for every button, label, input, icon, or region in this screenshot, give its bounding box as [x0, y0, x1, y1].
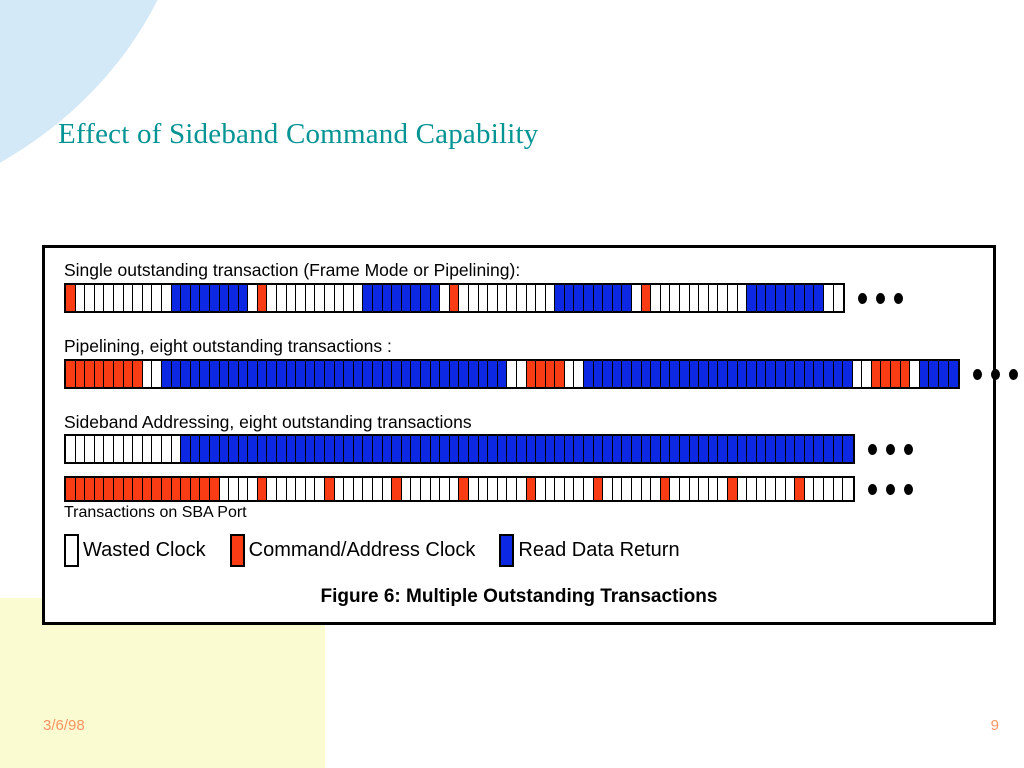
timing-cell-b	[824, 436, 834, 462]
timing-cell-b	[344, 436, 354, 462]
timing-cell-w	[479, 478, 489, 500]
timing-cell-r	[881, 361, 891, 387]
timing-cell-b	[661, 436, 671, 462]
timing-cell-r	[546, 361, 556, 387]
timing-cell-b	[402, 361, 412, 387]
timing-cell-b	[373, 285, 383, 311]
timing-cell-b	[459, 436, 469, 462]
timing-cell-b	[383, 285, 393, 311]
timing-cell-b	[392, 361, 402, 387]
timing-cell-r	[891, 361, 901, 387]
legend-swatch-read-data-return	[499, 534, 514, 567]
timing-cell-b	[757, 285, 767, 311]
timing-cell-w	[527, 285, 537, 311]
timing-cell-r	[200, 478, 210, 500]
timing-cell-b	[488, 361, 498, 387]
timing-cell-w	[651, 478, 661, 500]
timing-cell-w	[507, 361, 517, 387]
timing-cell-b	[200, 436, 210, 462]
timing-cell-b	[440, 436, 450, 462]
timing-cell-b	[325, 436, 335, 462]
timing-cell-w	[152, 285, 162, 311]
timing-cell-b	[786, 285, 796, 311]
timing-cell-b	[594, 436, 604, 462]
legend-item-command-address-clock: Command/Address Clock	[230, 534, 476, 567]
timing-cell-b	[258, 436, 268, 462]
timing-cell-b	[766, 436, 776, 462]
timing-cell-b	[220, 285, 230, 311]
timing-cell-b	[738, 361, 748, 387]
timing-cell-w	[229, 478, 239, 500]
legend-label-read-data-return: Read Data Return	[518, 539, 679, 562]
timing-cell-b	[172, 361, 182, 387]
timing-cell-w	[306, 285, 316, 311]
timing-cell-w	[95, 436, 105, 462]
timing-cell-b	[584, 285, 594, 311]
timing-cell-b	[670, 361, 680, 387]
timing-cell-r	[66, 285, 76, 311]
timing-cell-b	[622, 285, 632, 311]
timing-cell-r	[133, 361, 143, 387]
timing-cell-w	[690, 285, 700, 311]
timing-cell-b	[574, 285, 584, 311]
timing-cell-b	[747, 436, 757, 462]
timing-cell-w	[85, 285, 95, 311]
timing-cell-r	[728, 478, 738, 500]
timing-cell-w	[287, 285, 297, 311]
timing-cell-b	[258, 361, 268, 387]
timing-cell-w	[805, 478, 815, 500]
timing-cell-b	[747, 285, 757, 311]
timing-cell-r	[901, 361, 911, 387]
timing-cell-w	[661, 285, 671, 311]
timing-cell-b	[354, 361, 364, 387]
timing-cells	[64, 434, 855, 464]
timing-cell-b	[383, 361, 393, 387]
timing-cell-b	[565, 285, 575, 311]
footer-page-number: 9	[991, 717, 999, 734]
timing-cell-r	[114, 478, 124, 500]
ellipsis-dots	[868, 444, 913, 455]
timing-cell-b	[431, 361, 441, 387]
timing-cell-r	[555, 361, 565, 387]
timing-cell-b	[661, 361, 671, 387]
legend-label-command-address-clock: Command/Address Clock	[249, 539, 476, 562]
timing-cell-b	[296, 361, 306, 387]
timing-cell-w	[162, 285, 172, 311]
timing-cell-w	[354, 478, 364, 500]
timing-cell-w	[690, 478, 700, 500]
timing-cell-w	[450, 478, 460, 500]
timing-cell-r	[258, 478, 268, 500]
timing-cell-w	[95, 285, 105, 311]
timing-cell-b	[373, 361, 383, 387]
ellipsis-dots	[858, 293, 903, 304]
timing-cell-w	[622, 478, 632, 500]
timing-cell-w	[862, 361, 872, 387]
timing-cell-w	[709, 478, 719, 500]
timing-cell-b	[220, 436, 230, 462]
timing-cell-w	[239, 478, 249, 500]
timing-row-label-0: Single outstanding transaction (Frame Mo…	[64, 260, 520, 281]
timing-cell-b	[834, 361, 844, 387]
timing-cell-w	[507, 478, 517, 500]
timing-cell-w	[411, 478, 421, 500]
timing-cell-b	[651, 361, 661, 387]
timing-cell-w	[354, 285, 364, 311]
timing-cell-b	[296, 436, 306, 462]
timing-cell-b	[574, 436, 584, 462]
legend-item-wasted-clock: Wasted Clock	[64, 534, 206, 567]
timing-cell-r	[76, 361, 86, 387]
timing-cell-b	[181, 361, 191, 387]
timing-cell-b	[181, 285, 191, 311]
timing-cell-b	[814, 436, 824, 462]
timing-cell-r	[325, 478, 335, 500]
timing-cell-w	[363, 478, 373, 500]
timing-cell-b	[459, 361, 469, 387]
timing-cell-b	[191, 436, 201, 462]
timing-cell-b	[728, 361, 738, 387]
timing-cell-b	[536, 436, 546, 462]
timing-cell-w	[680, 285, 690, 311]
timing-cell-b	[680, 361, 690, 387]
timing-cell-b	[421, 285, 431, 311]
timing-cell-b	[613, 436, 623, 462]
timing-cell-b	[709, 436, 719, 462]
timing-cell-w	[277, 478, 287, 500]
timing-cell-w	[402, 478, 412, 500]
timing-cell-b	[632, 436, 642, 462]
timing-bar-single-outstanding	[64, 283, 903, 313]
timing-cell-b	[431, 436, 441, 462]
legend-swatch-wasted-clock	[64, 534, 79, 567]
timing-cell-w	[517, 478, 527, 500]
timing-cell-r	[85, 478, 95, 500]
timing-cell-w	[738, 478, 748, 500]
timing-cell-r	[536, 361, 546, 387]
timing-cell-b	[642, 436, 652, 462]
timing-cell-w	[383, 478, 393, 500]
timing-cell-b	[834, 436, 844, 462]
timing-cell-b	[651, 436, 661, 462]
timing-cell-r	[258, 285, 268, 311]
timing-cell-w	[507, 285, 517, 311]
timing-cell-b	[766, 285, 776, 311]
timing-cell-w	[76, 436, 86, 462]
timing-cell-r	[143, 478, 153, 500]
timing-cell-b	[277, 436, 287, 462]
timing-cell-b	[795, 436, 805, 462]
timing-cell-b	[795, 361, 805, 387]
timing-cell-b	[584, 361, 594, 387]
timing-cell-r	[114, 361, 124, 387]
timing-cell-r	[172, 478, 182, 500]
timing-cell-b	[814, 285, 824, 311]
timing-cell-b	[929, 361, 939, 387]
timing-cell-b	[306, 436, 316, 462]
timing-cell-b	[239, 285, 249, 311]
timing-cell-b	[191, 285, 201, 311]
timing-cell-r	[795, 478, 805, 500]
timing-cell-r	[181, 478, 191, 500]
timing-cell-b	[805, 436, 815, 462]
timing-cell-r	[642, 285, 652, 311]
timing-cell-w	[709, 285, 719, 311]
legend-label-wasted-clock: Wasted Clock	[83, 539, 206, 562]
timing-cell-w	[267, 478, 277, 500]
timing-cell-r	[459, 478, 469, 500]
timing-cell-b	[354, 436, 364, 462]
legend-item-read-data-return: Read Data Return	[499, 534, 679, 567]
timing-cell-b	[431, 285, 441, 311]
timing-cell-w	[277, 285, 287, 311]
timing-cell-b	[277, 361, 287, 387]
timing-cell-b	[603, 285, 613, 311]
timing-cell-r	[104, 478, 114, 500]
timing-cell-w	[632, 478, 642, 500]
timing-cell-r	[661, 478, 671, 500]
timing-cell-w	[306, 478, 316, 500]
timing-cell-b	[479, 436, 489, 462]
timing-cell-w	[162, 436, 172, 462]
timing-cell-w	[517, 361, 527, 387]
timing-cell-w	[546, 478, 556, 500]
timing-cell-b	[776, 361, 786, 387]
timing-cell-b	[546, 436, 556, 462]
timing-cell-b	[728, 436, 738, 462]
timing-cell-b	[527, 436, 537, 462]
timing-cell-w	[287, 478, 297, 500]
timing-cell-w	[248, 285, 258, 311]
timing-cell-b	[718, 436, 728, 462]
timing-cell-w	[584, 478, 594, 500]
timing-cell-b	[565, 436, 575, 462]
timing-cell-b	[392, 285, 402, 311]
timing-cell-b	[517, 436, 527, 462]
timing-cell-b	[738, 436, 748, 462]
timing-cell-b	[843, 436, 853, 462]
timing-cell-w	[104, 285, 114, 311]
timing-cell-w	[488, 478, 498, 500]
timing-cell-w	[718, 478, 728, 500]
timing-cell-b	[181, 436, 191, 462]
timing-cell-w	[824, 285, 834, 311]
timing-cell-r	[66, 361, 76, 387]
ellipsis-dots	[973, 369, 1018, 380]
timing-cell-b	[670, 436, 680, 462]
timing-cell-w	[517, 285, 527, 311]
timing-cell-b	[498, 436, 508, 462]
timing-cell-w	[267, 285, 277, 311]
timing-cell-w	[440, 478, 450, 500]
timing-cell-b	[373, 436, 383, 462]
timing-cell-w	[335, 285, 345, 311]
timing-cell-w	[124, 285, 134, 311]
timing-cell-b	[805, 285, 815, 311]
timing-cell-b	[949, 361, 959, 387]
timing-cell-b	[402, 436, 412, 462]
timing-cell-b	[440, 361, 450, 387]
timing-cell-b	[479, 361, 489, 387]
timing-cell-b	[363, 285, 373, 311]
timing-cell-w	[814, 478, 824, 500]
timing-cell-b	[469, 436, 479, 462]
timing-cell-w	[431, 478, 441, 500]
timing-cell-w	[440, 285, 450, 311]
timing-cell-b	[632, 361, 642, 387]
timing-cell-w	[172, 436, 182, 462]
timing-row-label-3: Transactions on SBA Port	[64, 504, 247, 522]
timing-cell-b	[450, 361, 460, 387]
timing-cell-b	[507, 436, 517, 462]
timing-cell-b	[920, 361, 930, 387]
timing-cell-w	[853, 361, 863, 387]
timing-cell-b	[690, 436, 700, 462]
timing-cell-w	[488, 285, 498, 311]
timing-cell-b	[402, 285, 412, 311]
timing-cell-w	[421, 478, 431, 500]
timing-cell-b	[267, 436, 277, 462]
timing-cell-b	[642, 361, 652, 387]
timing-cell-b	[699, 361, 709, 387]
timing-cell-r	[124, 361, 134, 387]
timing-cell-w	[315, 478, 325, 500]
timing-cell-w	[469, 478, 479, 500]
timing-cell-b	[229, 436, 239, 462]
timing-cell-w	[642, 478, 652, 500]
timing-cell-w	[786, 478, 796, 500]
timing-cell-w	[651, 285, 661, 311]
timing-cell-b	[162, 361, 172, 387]
timing-cell-r	[133, 478, 143, 500]
timing-cell-r	[95, 478, 105, 500]
timing-cell-b	[613, 285, 623, 311]
timing-cell-b	[603, 361, 613, 387]
timing-cell-w	[536, 478, 546, 500]
timing-cell-w	[85, 436, 95, 462]
timing-cells	[64, 283, 845, 313]
timing-cell-b	[718, 361, 728, 387]
timing-cell-b	[594, 285, 604, 311]
timing-cell-w	[680, 478, 690, 500]
timing-cell-b	[191, 361, 201, 387]
timing-cell-b	[843, 361, 853, 387]
timing-cell-w	[728, 285, 738, 311]
timing-cell-b	[747, 361, 757, 387]
page-title: Effect of Sideband Command Capability	[58, 118, 538, 151]
timing-cell-w	[670, 285, 680, 311]
timing-cell-w	[834, 285, 844, 311]
timing-cell-b	[210, 436, 220, 462]
timing-cell-w	[565, 478, 575, 500]
timing-cell-b	[210, 285, 220, 311]
timing-cell-r	[872, 361, 882, 387]
timing-cell-w	[574, 361, 584, 387]
timing-cell-w	[114, 285, 124, 311]
timing-cell-b	[603, 436, 613, 462]
timing-cell-w	[670, 478, 680, 500]
timing-cell-b	[622, 361, 632, 387]
timing-cell-w	[296, 285, 306, 311]
timing-cell-w	[536, 285, 546, 311]
timing-cell-b	[939, 361, 949, 387]
timing-cell-b	[786, 436, 796, 462]
timing-cell-b	[469, 361, 479, 387]
timing-row-label-1: Pipelining, eight outstanding transactio…	[64, 336, 392, 357]
timing-cell-r	[450, 285, 460, 311]
timing-cell-w	[114, 436, 124, 462]
timing-cell-b	[450, 436, 460, 462]
timing-cell-r	[95, 361, 105, 387]
timing-cell-b	[622, 436, 632, 462]
timing-cell-w	[469, 285, 479, 311]
timing-cell-w	[344, 478, 354, 500]
timing-cell-b	[795, 285, 805, 311]
timing-cell-b	[267, 361, 277, 387]
timing-cell-b	[766, 361, 776, 387]
figure-container: Single outstanding transaction (Frame Mo…	[42, 245, 996, 625]
timing-cell-r	[162, 478, 172, 500]
timing-cell-b	[805, 361, 815, 387]
timing-cell-b	[555, 285, 565, 311]
timing-cell-b	[287, 361, 297, 387]
timing-cell-w	[133, 436, 143, 462]
timing-cell-r	[76, 478, 86, 500]
timing-cell-w	[296, 478, 306, 500]
timing-cell-b	[488, 436, 498, 462]
timing-cell-w	[104, 436, 114, 462]
ellipsis-dots	[868, 484, 913, 495]
timing-cell-r	[152, 478, 162, 500]
timing-cell-w	[738, 285, 748, 311]
timing-cell-w	[565, 361, 575, 387]
timing-cell-w	[76, 285, 86, 311]
timing-cell-b	[757, 361, 767, 387]
timing-cell-w	[459, 285, 469, 311]
timing-cell-b	[335, 436, 345, 462]
timing-cell-b	[172, 285, 182, 311]
timing-cell-b	[594, 361, 604, 387]
timing-cell-w	[344, 285, 354, 311]
timing-cell-b	[200, 361, 210, 387]
timing-cell-b	[306, 361, 316, 387]
timing-bar-pipelining-eight	[64, 359, 1018, 389]
timing-cell-w	[603, 478, 613, 500]
timing-cell-w	[335, 478, 345, 500]
timing-cell-r	[527, 478, 537, 500]
timing-cell-b	[344, 361, 354, 387]
legend-swatch-command-address-clock	[230, 534, 245, 567]
timing-cell-r	[104, 361, 114, 387]
timing-cell-w	[373, 478, 383, 500]
timing-cell-w	[632, 285, 642, 311]
timing-cell-r	[191, 478, 201, 500]
timing-cell-b	[363, 436, 373, 462]
timing-cell-b	[220, 361, 230, 387]
timing-cell-r	[527, 361, 537, 387]
timing-cell-b	[421, 436, 431, 462]
timing-cell-b	[690, 361, 700, 387]
timing-cell-w	[613, 478, 623, 500]
timing-cell-w	[834, 478, 844, 500]
timing-cell-b	[757, 436, 767, 462]
timing-cell-b	[411, 285, 421, 311]
timing-cell-w	[498, 478, 508, 500]
footer-date: 3/6/98	[43, 717, 85, 734]
timing-cell-w	[220, 478, 230, 500]
timing-cell-b	[411, 436, 421, 462]
